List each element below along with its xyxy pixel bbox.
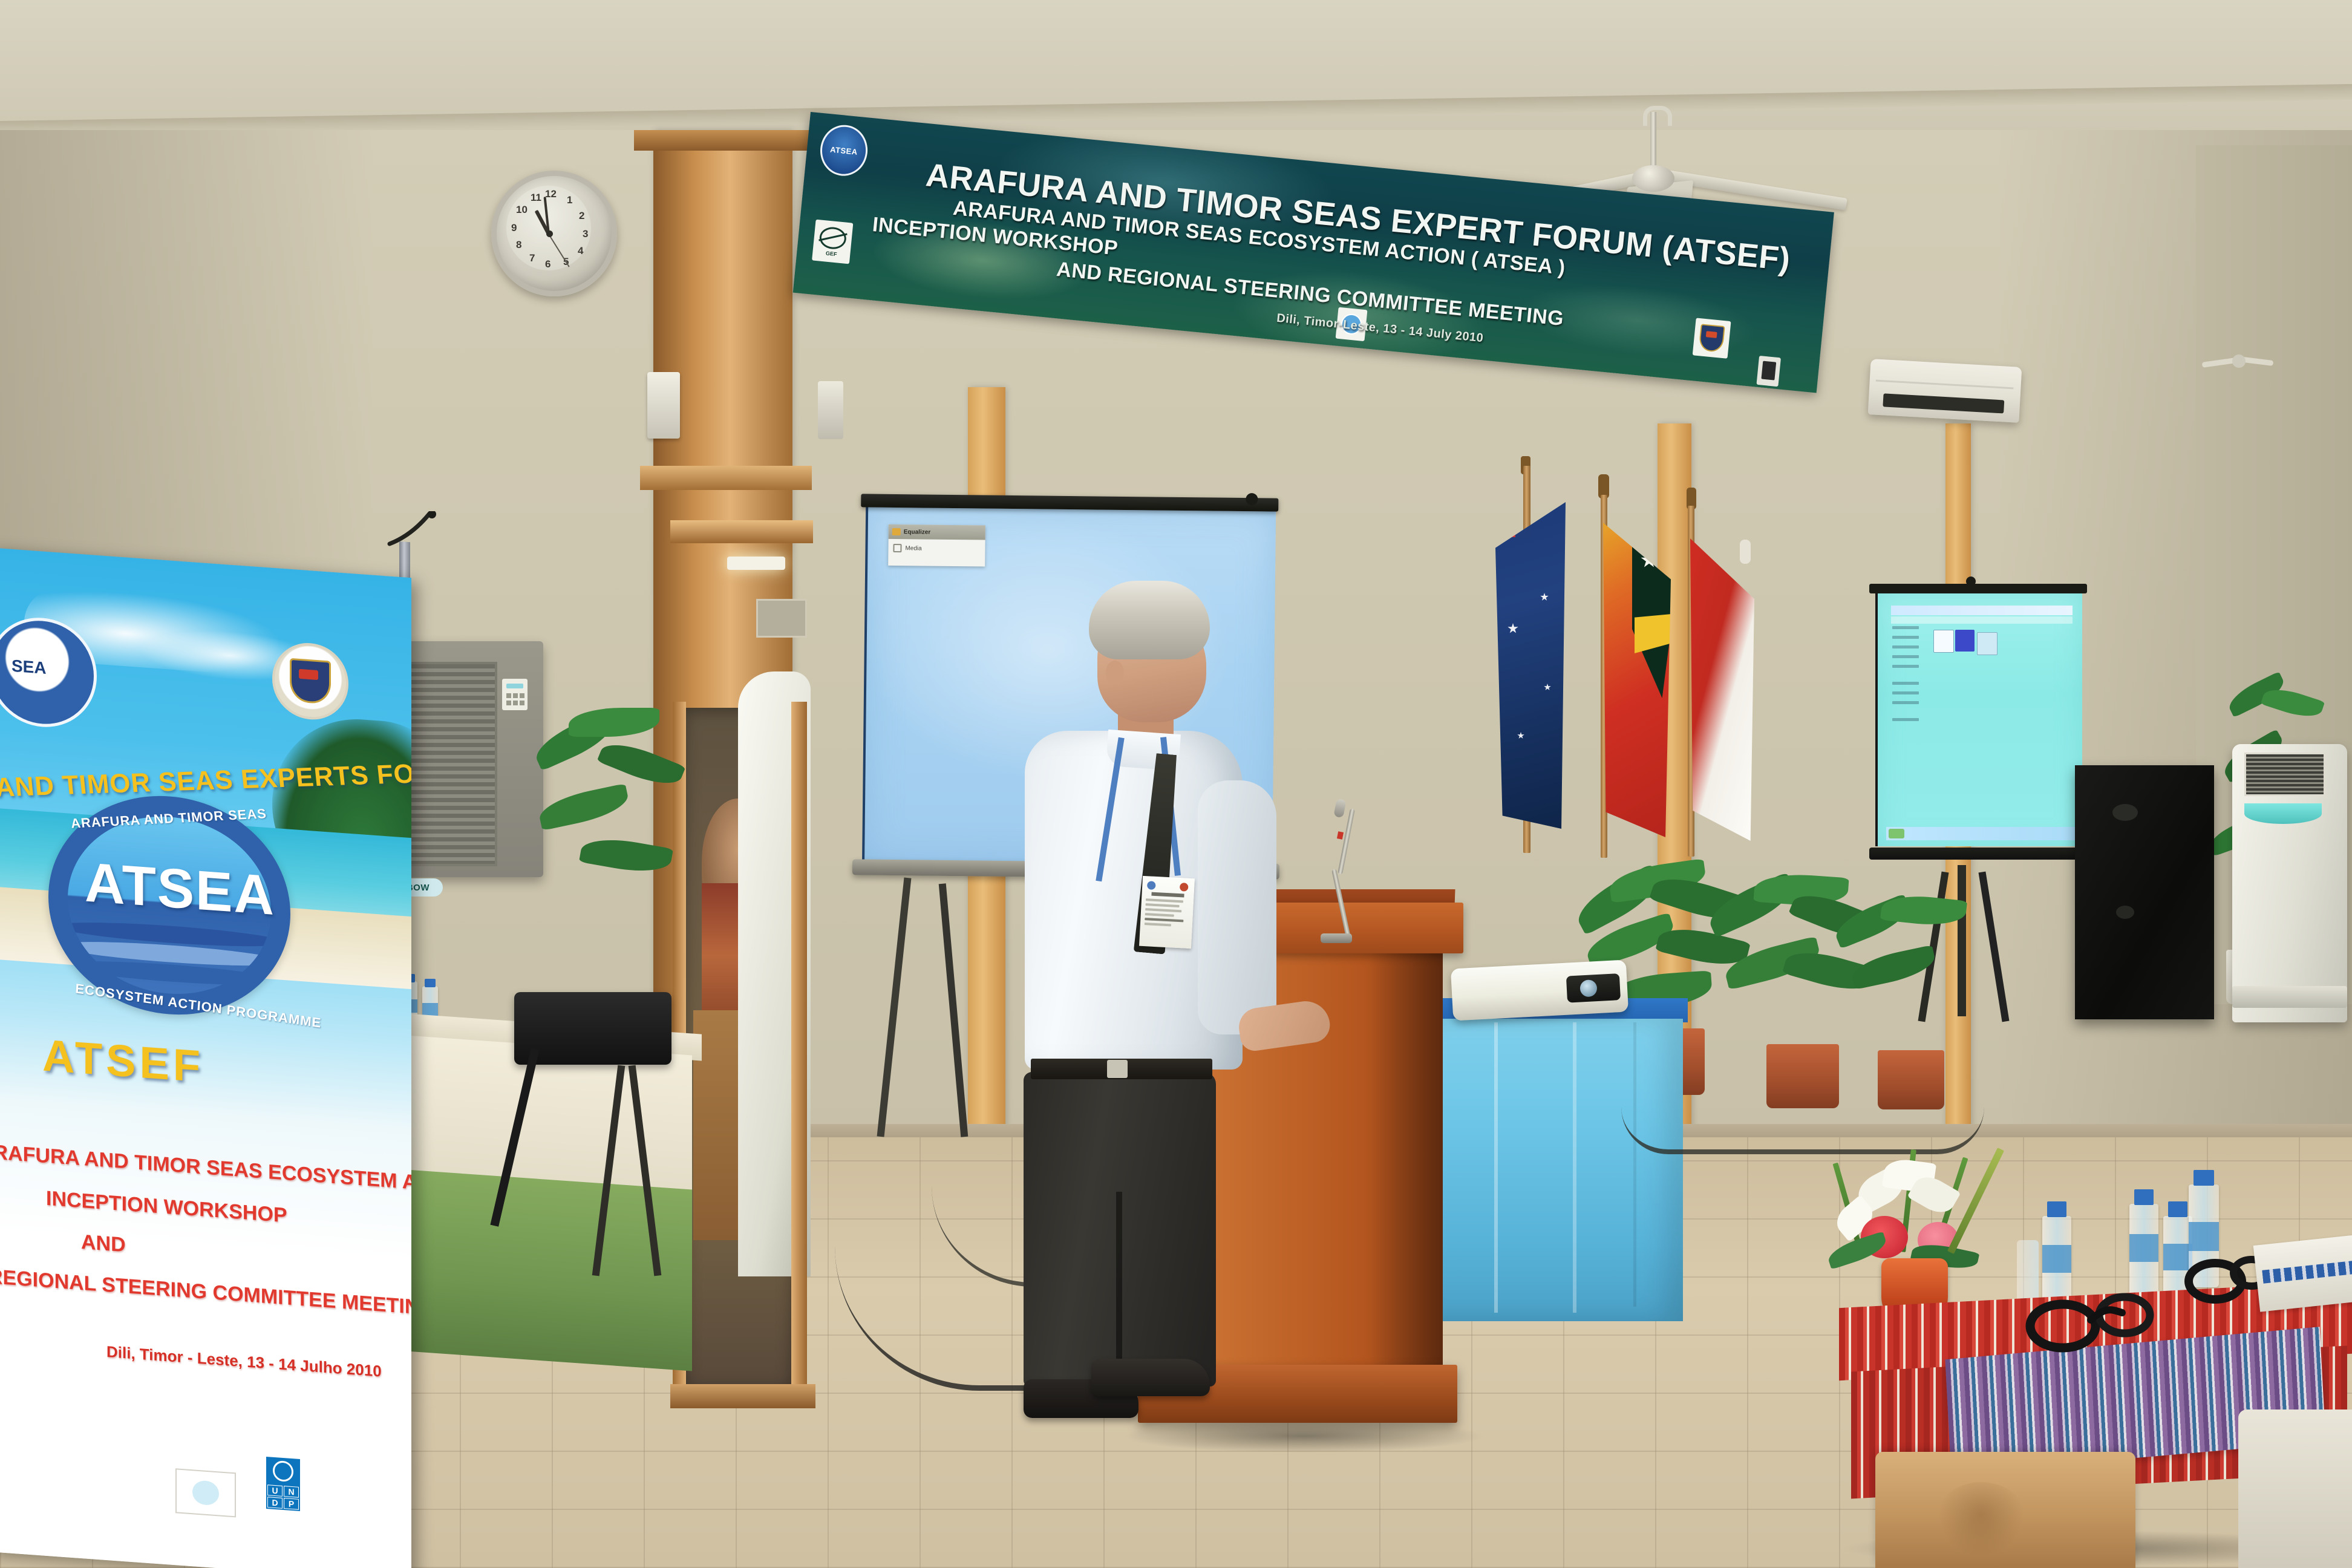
undp-logo-icon: U N D P [266,1457,300,1511]
mirror-frame-top [670,520,813,543]
projector-table [1434,998,1688,1337]
wall-fan [2202,345,2275,381]
floor-cable [1621,1107,1984,1154]
conference-name-badge [1139,876,1195,949]
start-button[interactable] [1889,829,1904,838]
secondary-projection-screen [1869,584,2087,874]
potted-plant [532,714,690,968]
mic-upper-stem [1338,808,1355,875]
secondary-screen-hook [1966,577,1976,586]
projected-dialog-window[interactable]: Equalizer Media [888,524,985,567]
ceiling-fan-hook [1643,106,1672,126]
ac-vent [1883,393,2004,413]
poster-body-line-4: REGIONAL STEERING COMMITTEE MEETING [0,1265,411,1321]
clock-numeral: 8 [516,239,521,251]
mic-lower-stem [1331,869,1350,936]
dialog-body-text: Media [905,545,921,552]
secondary-screen-top-bar [1869,584,2087,593]
explorer-file-icon-selected[interactable] [1955,630,1975,652]
clock-center-pin [546,230,553,237]
analog-wall-clock: 12 1 2 3 4 5 6 7 8 9 10 11 [491,171,617,296]
ceiling-fan-rod [1650,112,1656,170]
badge-seal-icon [1180,883,1189,892]
dialog-body: Media [888,539,985,558]
floor-standing-air-conditioner[interactable] [2232,744,2347,1022]
presenter-at-lectern [1016,581,1331,1446]
unesco-logo-icon [175,1468,236,1517]
flag-australia [1488,466,1567,853]
projector-table-skirt [1439,1019,1683,1321]
pa-speaker [2075,765,2214,1019]
clock-numeral: 10 [516,204,528,216]
skirt-fold [1494,1022,1498,1313]
partner-logo-icon [1756,356,1781,387]
clock-numeral: 6 [545,258,550,270]
clock-numeral: 2 [579,210,584,222]
clock-numeral: 4 [578,245,583,257]
presenter-shoe [1091,1359,1210,1396]
dialog-title-bar: Equalizer [889,524,985,540]
dialog-app-icon [892,528,901,535]
atsea-logo-icon: ATSEA [818,123,870,178]
timor-leste-seal-icon [272,641,348,722]
dialog-item-icon [893,544,901,552]
poster-acronym: ATSEF [42,1029,204,1092]
undp-letter: U [267,1485,283,1497]
undp-letter: P [284,1498,299,1510]
split-air-conditioner [1868,359,2022,423]
floor-ac-display [2244,803,2322,824]
explorer-title-bar [1891,606,2073,615]
headsets[interactable] [2020,1289,2178,1355]
chair-fabric-motif [1936,1482,2027,1555]
ac-seam [1876,380,2014,390]
explorer-file-icon[interactable] [1933,630,1954,653]
conference-hall-photo: 12 1 2 3 4 5 6 7 8 9 10 11 ATSEA GEF [0,0,2352,1568]
atsea-emblem: ATSEA ARAFURA AND TIMOR SEAS ECOSYSTEM A… [12,761,327,1044]
ceiling-light [727,557,785,570]
lectern-body-shading [1370,950,1443,1367]
presenter-hair [1089,581,1210,659]
seated-attendee-foreground [2238,1410,2352,1568]
belt-buckle [1107,1060,1128,1078]
explorer-file-icon[interactable] [1977,632,1998,655]
secondary-screen-surface [1875,592,2082,846]
clock-numeral: 1 [567,194,572,206]
undp-letter: N [284,1486,299,1498]
floor-ac-base [2232,986,2347,1008]
mic-indicator-ring [1337,831,1344,839]
poster-body-line-2: INCEPTION WORKSHOP [46,1187,287,1228]
gef-logo-icon: GEF [812,220,853,264]
poster-body-line-3: AND [81,1230,126,1257]
undp-letter: D [267,1497,283,1509]
explorer-taskbar [1886,827,2086,840]
timor-leste-seal-icon [1693,318,1731,358]
dialog-title-text: Equalizer [904,529,931,535]
flag-timor-leste [1579,490,1664,865]
clock-numeral: 12 [545,188,557,200]
clock-numeral: 7 [529,252,535,264]
standing-event-poster: SEA ATSEA ARAFURA AND TIMOR SEAS ECOSYST… [0,547,436,1568]
video-projector[interactable] [1451,959,1628,1021]
potted-plant [1827,907,1984,1137]
wall-speaker-box [647,372,680,439]
clock-numeral: 9 [511,222,517,234]
secondary-screen-bottom-bar [1869,848,2087,860]
badge-logo-icon [1147,881,1156,890]
flag-indonesia [1670,502,1748,865]
ceiling-fan-hub [1632,165,1674,192]
explorer-toolbar [1891,616,2073,624]
poster-date-line: Dili, Timor - Leste, 13 - 14 Julho 2010 [106,1342,382,1381]
column-capital [640,466,812,490]
projection-screen-hook [1246,493,1258,505]
poster-surface: SEA ATSEA ARAFURA AND TIMOR SEAS ECOSYST… [0,547,411,1568]
column-top-trim [634,130,815,151]
skirt-fold [1573,1022,1576,1313]
emblem-acronym: ATSEA [85,851,275,928]
skirt-fold [1633,1022,1636,1307]
explorer-sidebar [1892,626,1921,723]
floor-ac-grille [2244,753,2325,796]
presenter-arm [1198,780,1276,1034]
air-cooler-control-panel[interactable] [502,679,528,710]
flag-cord [1740,540,1751,564]
wall-picture [756,599,807,638]
poster-hanger-hook [387,511,442,547]
mirror-frame-right [791,702,807,1403]
clock-numeral: 3 [583,228,588,240]
presenter-ear [1106,661,1124,685]
clock-numeral: 11 [531,192,541,204]
